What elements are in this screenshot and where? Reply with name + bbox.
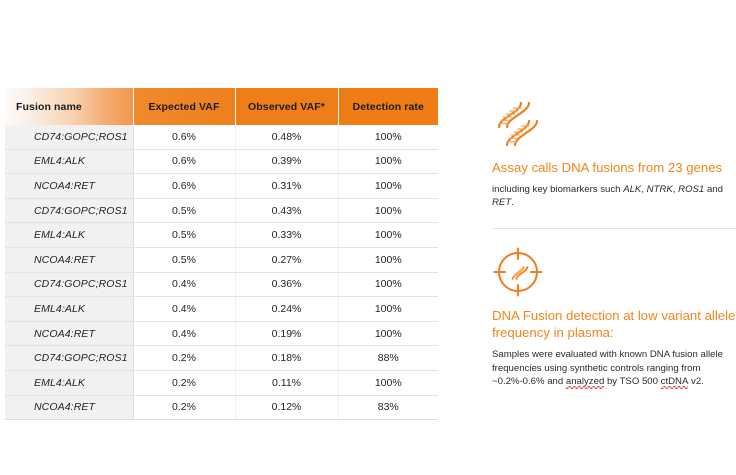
cell-observed-vaf: 0.36% xyxy=(235,272,338,297)
cell-detection-rate: 100% xyxy=(338,125,438,149)
cell-expected-vaf: 0.6% xyxy=(133,149,235,174)
panel-title-low-vaf: DNA Fusion detection at low variant alle… xyxy=(492,307,736,341)
cell-detection-rate: 88% xyxy=(338,346,438,371)
panel-body-low-vaf: Samples were evaluated with known DNA fu… xyxy=(492,348,736,388)
cell-fusion-name: CD74:GOPC;ROS1 xyxy=(5,346,133,371)
column-header-detection-rate: Detection rate xyxy=(338,88,438,125)
cell-detection-rate: 100% xyxy=(338,174,438,199)
cell-detection-rate: 100% xyxy=(338,321,438,346)
info-panel-column: Assay calls DNA fusions from 23 genes in… xyxy=(492,98,736,388)
cell-fusion-name: EML4:ALK xyxy=(5,223,133,248)
gene-ret: RET xyxy=(492,197,511,208)
table-row: NCOA4:RET0.4%0.19%100% xyxy=(5,321,438,346)
cell-detection-rate: 100% xyxy=(338,223,438,248)
table-row: CD74:GOPC;ROS10.2%0.18%88% xyxy=(5,346,438,371)
panel-body-dna-fusions: including key biomarkers such ALK, NTRK,… xyxy=(492,183,736,209)
cell-observed-vaf: 0.19% xyxy=(235,321,338,346)
spellcheck-word-analyzed: analyzed xyxy=(566,376,604,387)
table-row: NCOA4:RET0.5%0.27%100% xyxy=(5,247,438,272)
panel-body-line3c: v2. xyxy=(688,376,703,387)
cell-detection-rate: 100% xyxy=(338,272,438,297)
cell-expected-vaf: 0.5% xyxy=(133,198,235,223)
panel-body-line3a: ~0.2%-0.6% and xyxy=(492,376,566,387)
cell-observed-vaf: 0.27% xyxy=(235,247,338,272)
cell-detection-rate: 100% xyxy=(338,149,438,174)
table-row: EML4:ALK0.2%0.11%100% xyxy=(5,370,438,395)
cell-fusion-name: NCOA4:RET xyxy=(5,247,133,272)
cell-fusion-name: NCOA4:RET xyxy=(5,395,133,420)
table-row: CD74:GOPC;ROS10.5%0.43%100% xyxy=(5,198,438,223)
cell-observed-vaf: 0.11% xyxy=(235,370,338,395)
gene-alk: ALK xyxy=(623,184,641,195)
dna-target-icon xyxy=(492,246,736,298)
panel-body-line1: Samples were evaluated with known DNA fu… xyxy=(492,349,723,360)
cell-fusion-name: CD74:GOPC;ROS1 xyxy=(5,125,133,149)
panel-body-prefix: including key biomarkers such xyxy=(492,184,623,195)
cell-expected-vaf: 0.2% xyxy=(133,370,235,395)
cell-expected-vaf: 0.5% xyxy=(133,247,235,272)
table-header-row: Fusion name Expected VAF Observed VAF* D… xyxy=(5,88,438,125)
cell-detection-rate: 100% xyxy=(338,370,438,395)
column-header-observed-vaf: Observed VAF* xyxy=(235,88,338,125)
cell-fusion-name: NCOA4:RET xyxy=(5,174,133,199)
cell-detection-rate: 100% xyxy=(338,297,438,322)
panel-body-line3b: by TSO 500 xyxy=(604,376,660,387)
panel-body-mid: and xyxy=(704,184,723,195)
cell-fusion-name: NCOA4:RET xyxy=(5,321,133,346)
cell-expected-vaf: 0.4% xyxy=(133,272,235,297)
cell-observed-vaf: 0.18% xyxy=(235,346,338,371)
table-row: EML4:ALK0.5%0.33%100% xyxy=(5,223,438,248)
table-row: CD74:GOPC;ROS10.4%0.36%100% xyxy=(5,272,438,297)
cell-expected-vaf: 0.2% xyxy=(133,395,235,420)
column-header-fusion-name: Fusion name xyxy=(5,88,133,125)
cell-expected-vaf: 0.4% xyxy=(133,321,235,346)
cell-expected-vaf: 0.5% xyxy=(133,223,235,248)
table-row: CD74:GOPC;ROS10.6%0.48%100% xyxy=(5,125,438,149)
gene-ros1: ROS1 xyxy=(678,184,704,195)
cell-fusion-name: CD74:GOPC;ROS1 xyxy=(5,198,133,223)
column-header-expected-vaf: Expected VAF xyxy=(133,88,235,125)
cell-detection-rate: 100% xyxy=(338,247,438,272)
cell-observed-vaf: 0.24% xyxy=(235,297,338,322)
cell-fusion-name: CD74:GOPC;ROS1 xyxy=(5,272,133,297)
cell-fusion-name: EML4:ALK xyxy=(5,149,133,174)
gene-ntrk: NTRK xyxy=(647,184,673,195)
cell-observed-vaf: 0.48% xyxy=(235,125,338,149)
panel-divider xyxy=(492,228,736,229)
info-panel-low-vaf: DNA Fusion detection at low variant alle… xyxy=(492,246,736,388)
cell-observed-vaf: 0.33% xyxy=(235,223,338,248)
cell-detection-rate: 100% xyxy=(338,198,438,223)
cell-observed-vaf: 0.39% xyxy=(235,149,338,174)
cell-expected-vaf: 0.6% xyxy=(133,174,235,199)
cell-observed-vaf: 0.12% xyxy=(235,395,338,420)
spellcheck-word-ctdna: ctDNA xyxy=(661,376,689,387)
cell-fusion-name: EML4:ALK xyxy=(5,370,133,395)
panel-body-line2: frequencies using synthetic controls ran… xyxy=(492,363,701,374)
dna-helix-icon xyxy=(492,98,736,150)
cell-observed-vaf: 0.31% xyxy=(235,174,338,199)
cell-expected-vaf: 0.6% xyxy=(133,125,235,149)
panel-body-suffix: . xyxy=(511,197,514,208)
table-row: NCOA4:RET0.2%0.12%83% xyxy=(5,395,438,420)
cell-fusion-name: EML4:ALK xyxy=(5,297,133,322)
panel-title-dna-fusions: Assay calls DNA fusions from 23 genes xyxy=(492,159,736,176)
table-row: EML4:ALK0.4%0.24%100% xyxy=(5,297,438,322)
table-row: NCOA4:RET0.6%0.31%100% xyxy=(5,174,438,199)
fusion-results-table-container: Fusion name Expected VAF Observed VAF* D… xyxy=(5,88,438,420)
fusion-results-table: Fusion name Expected VAF Observed VAF* D… xyxy=(5,88,438,420)
table-body: CD74:GOPC;ROS10.6%0.48%100%EML4:ALK0.6%0… xyxy=(5,125,438,420)
info-panel-dna-fusions: Assay calls DNA fusions from 23 genes in… xyxy=(492,98,736,209)
table-row: EML4:ALK0.6%0.39%100% xyxy=(5,149,438,174)
cell-expected-vaf: 0.2% xyxy=(133,346,235,371)
cell-expected-vaf: 0.4% xyxy=(133,297,235,322)
cell-detection-rate: 83% xyxy=(338,395,438,420)
cell-observed-vaf: 0.43% xyxy=(235,198,338,223)
table-header: Fusion name Expected VAF Observed VAF* D… xyxy=(5,88,438,125)
